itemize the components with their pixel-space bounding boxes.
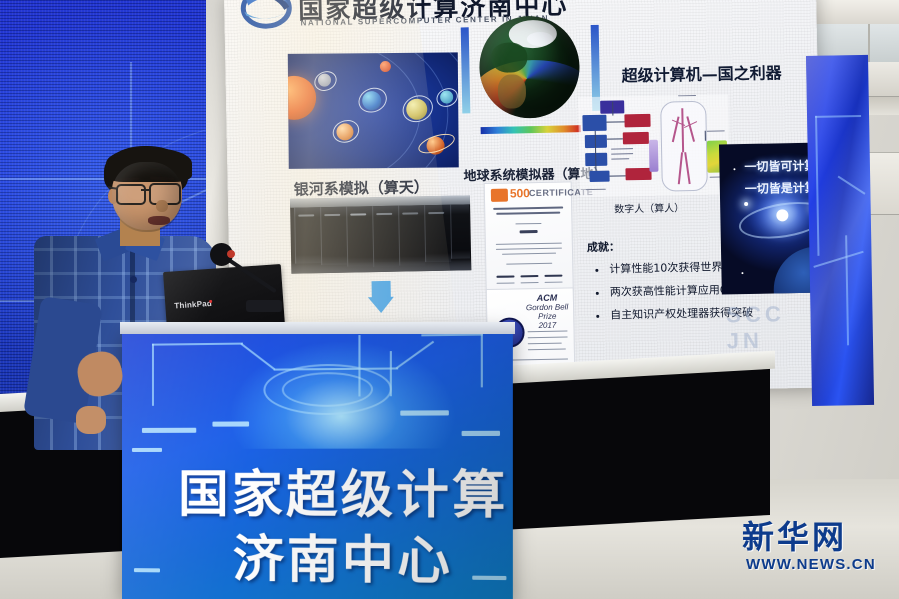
news-watermark-url: WWW.NEWS.CN bbox=[746, 556, 876, 573]
bullet-dot bbox=[596, 315, 599, 318]
top500-certificate: 500 CERTIFICATE bbox=[484, 181, 574, 293]
earth-system-model-globe-image bbox=[474, 9, 587, 156]
human-body-outline bbox=[660, 101, 708, 192]
supercomputer-racks-photo bbox=[290, 195, 471, 273]
acm-year: 2017 bbox=[523, 320, 571, 330]
blue-hanging-banner bbox=[806, 55, 874, 406]
caption-human: 数字人（算人） bbox=[614, 199, 684, 215]
rail-mullion bbox=[868, 24, 870, 64]
podium-top-edge bbox=[120, 322, 515, 334]
galaxy-quote-line1: 一切皆可计算 bbox=[744, 157, 816, 175]
screenshot-root: 国家超级计算济南中心 NATIONAL SUPERCOMPUTER CENTER… bbox=[0, 0, 899, 599]
podium: 国家超级计算 济南中心 bbox=[122, 327, 513, 599]
planet bbox=[380, 61, 391, 72]
bullet-dot bbox=[596, 292, 599, 295]
digital-human-workflow-diagram bbox=[578, 94, 730, 197]
top500-badge-icon bbox=[491, 189, 508, 202]
down-arrow-head bbox=[368, 297, 394, 313]
news-watermark-cn: 新华网 bbox=[742, 512, 847, 558]
speaker-hand-left bbox=[76, 406, 106, 434]
swirl-logo-icon bbox=[240, 0, 293, 32]
scc-jn-watermark: SCC JN bbox=[726, 301, 823, 355]
side-colorstrip bbox=[461, 27, 471, 113]
microphone-tip bbox=[227, 250, 235, 258]
bullet-dot bbox=[595, 269, 598, 272]
top500-number: 500 bbox=[510, 186, 530, 200]
slide-title: 超级计算机—国之利器 bbox=[621, 59, 781, 86]
galaxy-quote-line2: 一切皆是计算 bbox=[745, 179, 817, 197]
acm-prize: Gordon Bell Prize bbox=[523, 302, 571, 321]
earth-colorbar bbox=[481, 125, 581, 134]
solar-system-simulation-image bbox=[288, 52, 459, 168]
face-shading bbox=[112, 162, 182, 232]
achievements-heading: 成就： bbox=[587, 238, 620, 255]
microphone-base bbox=[246, 300, 282, 312]
